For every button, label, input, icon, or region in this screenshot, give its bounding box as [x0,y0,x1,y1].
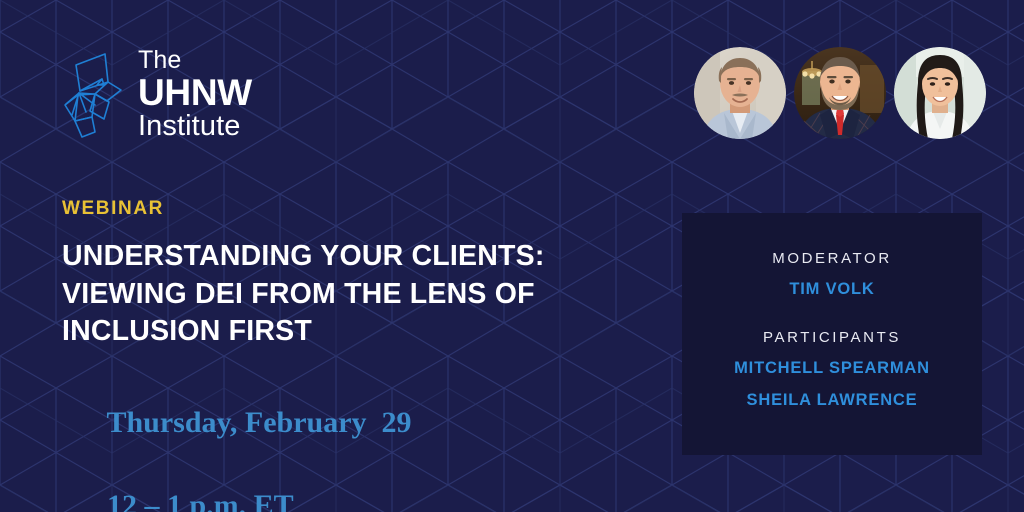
moderator-label: MODERATOR [772,250,892,267]
eyebrow-label: WEBINAR [62,198,642,220]
title-line-2: VIEWING DEI FROM THE LENS OF [62,278,535,310]
speakers-panel: MODERATOR TIM VOLK PARTICIPANTS MITCHELL… [682,213,982,455]
moderator-name: TIM VOLK [789,280,874,299]
webinar-title: UNDERSTANDING YOUR CLIENTS: VIEWING DEI … [62,238,642,351]
participant-name: SHEILA LAWRENCE [747,391,918,410]
logo-line-institute: Institute [138,112,252,141]
speaker-avatar-group [694,47,986,139]
uhnw-logomark-icon [62,49,124,141]
logo-wordmark: The UHNW Institute [138,48,252,141]
webinar-time: 12 – 1 p.m. ET [107,489,294,512]
uhnw-institute-logo[interactable]: The UHNW Institute [62,48,252,141]
logo-line-the: The [138,48,252,73]
logo-line-uhnw: UHNW [138,74,252,111]
webinar-promo-banner: The UHNW Institute [0,0,1024,512]
webinar-date: Thursday, February 29 [106,406,411,439]
speaker-headshot-1 [694,47,786,139]
title-line-1: UNDERSTANDING YOUR CLIENTS: [62,240,545,272]
speaker-headshot-3 [894,47,986,139]
webinar-datetime: Thursday, February 29 12 – 1 p.m. ET [62,361,642,512]
speaker-headshot-2 [794,47,886,139]
participants-label: PARTICIPANTS [763,329,901,346]
title-line-3: INCLUSION FIRST [62,315,312,347]
participant-name: MITCHELL SPEARMAN [734,359,930,378]
webinar-details: WEBINAR UNDERSTANDING YOUR CLIENTS: VIEW… [62,198,642,512]
